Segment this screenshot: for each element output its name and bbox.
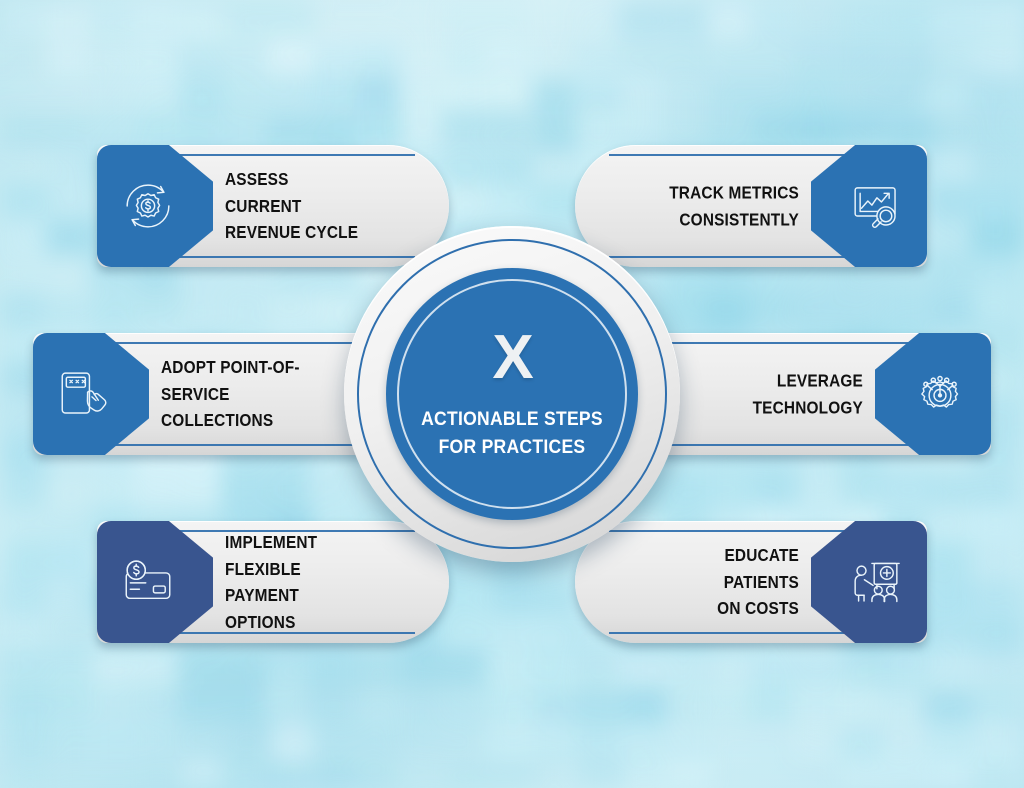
hub-disc: X ACTIONABLE STEPS FOR PRACTICES: [386, 268, 638, 520]
panel-label-line2: CONSISTENTLY: [655, 206, 799, 233]
panel-label-line1: EDUCATE PATIENTS: [655, 542, 799, 595]
brand-x-mark: X: [492, 327, 531, 389]
hub-title-line1: ACTIONABLE STEPS: [421, 405, 603, 433]
panel-label: ASSESS CURRENTREVENUE CYCLE: [225, 166, 389, 246]
panel-track-metrics-consistently[interactable]: TRACK METRICSCONSISTENTLY: [575, 145, 927, 267]
panel-label-line2: TECHNOLOGY: [662, 394, 863, 421]
panel-label-line2: COLLECTIONS: [161, 407, 362, 434]
panel-label: IMPLEMENT FLEXIBLEPAYMENT OPTIONS: [225, 529, 389, 635]
infographic-stage: ASSESS CURRENTREVENUE CYCLE TRACK METRIC…: [0, 0, 1024, 788]
panel-label-line2: PAYMENT OPTIONS: [225, 582, 369, 635]
panel-implement-flexible-payment-options[interactable]: IMPLEMENT FLEXIBLEPAYMENT OPTIONS: [97, 521, 449, 643]
presenter-medical-board-icon: [847, 553, 905, 611]
hub-title: ACTIONABLE STEPS FOR PRACTICES: [411, 405, 613, 462]
panel-label-line1: TRACK METRICS: [655, 179, 799, 206]
credit-card-dollar-icon: [119, 553, 177, 611]
panel-label-line2: ON COSTS: [655, 595, 799, 622]
pin-pad-hand-icon: [55, 365, 113, 423]
chart-magnifier-icon: [847, 177, 905, 235]
panel-label-line2: REVENUE CYCLE: [225, 219, 369, 246]
hub-title-line2: FOR PRACTICES: [421, 433, 603, 461]
panel-educate-patients-on-costs[interactable]: EDUCATE PATIENTSON COSTS: [575, 521, 927, 643]
panel-label-line1: ASSESS CURRENT: [225, 166, 369, 219]
panel-label: EDUCATE PATIENTSON COSTS: [635, 542, 799, 622]
panel-label-line1: IMPLEMENT FLEXIBLE: [225, 529, 369, 582]
center-hub: X ACTIONABLE STEPS FOR PRACTICES: [344, 226, 680, 562]
panel-label-line1: ADOPT POINT-OF-SERVICE: [161, 354, 362, 407]
tech-gear-circuit-icon: [911, 365, 969, 423]
panel-label-line1: LEVERAGE: [662, 367, 863, 394]
hub-inner-ring: [397, 279, 627, 509]
panel-assess-current-revenue-cycle[interactable]: ASSESS CURRENTREVENUE CYCLE: [97, 145, 449, 267]
gear-dollar-cycle-icon: [119, 177, 177, 235]
panel-label: TRACK METRICSCONSISTENTLY: [635, 179, 799, 232]
